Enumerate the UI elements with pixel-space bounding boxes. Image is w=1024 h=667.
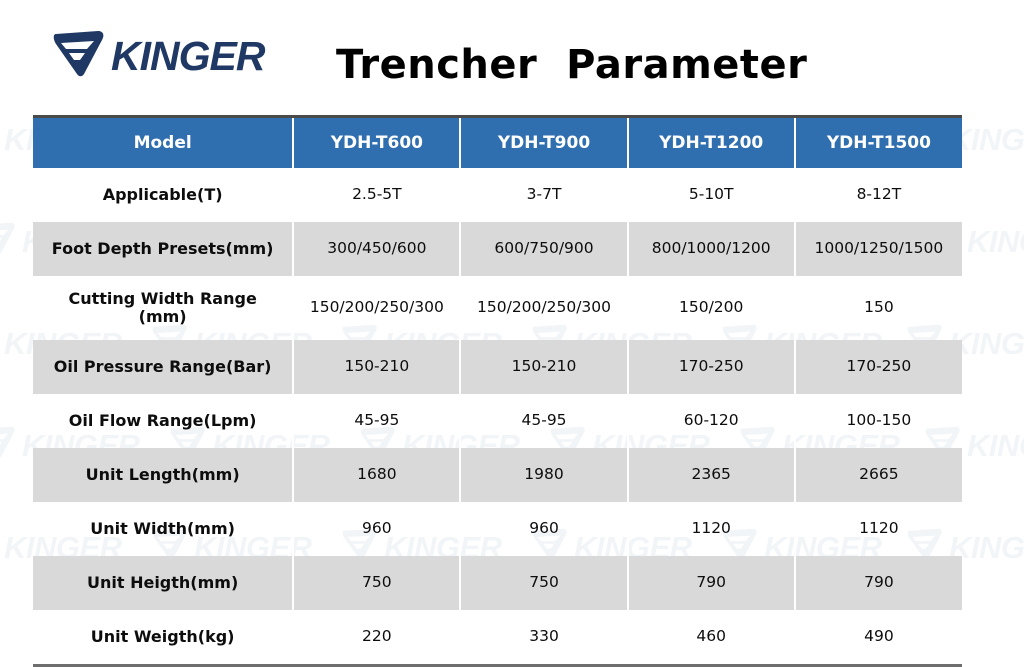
watermark-label: KINGER: [967, 226, 1024, 257]
table-header-row: Model YDH-T600 YDH-T900 YDH-T1200 YDH-T1…: [33, 117, 962, 169]
table-row: Unit Weigth(kg)220330460490: [33, 610, 962, 666]
table-cell: 220: [293, 610, 460, 666]
table-cell: 1120: [628, 502, 795, 556]
table-cell: 5-10T: [628, 168, 795, 222]
row-label: Unit Length(mm): [33, 448, 293, 502]
table-cell: 60-120: [628, 394, 795, 448]
brand-name: KINGER: [111, 36, 264, 77]
kinger-shield-logo-icon: [0, 426, 18, 464]
table-cell: 750: [460, 556, 627, 610]
table-cell: 100-150: [795, 394, 962, 448]
table-header: Model YDH-T600 YDH-T900 YDH-T1200 YDH-T1…: [33, 117, 962, 169]
row-label: Unit Heigth(mm): [33, 556, 293, 610]
table-cell: 8-12T: [795, 168, 962, 222]
table-row: Foot Depth Presets(mm)300/450/600600/750…: [33, 222, 962, 276]
table-cell: 150/200: [628, 276, 795, 340]
table-cell: 330: [460, 610, 627, 666]
row-label: Oil Pressure Range(Bar): [33, 340, 293, 394]
table-cell: 1980: [460, 448, 627, 502]
row-label: Cutting Width Range(mm): [33, 276, 293, 340]
table-cell: 790: [628, 556, 795, 610]
table-cell: 300/450/600: [293, 222, 460, 276]
table-cell: 1000/1250/1500: [795, 222, 962, 276]
page-title: Trencher Parameter: [336, 42, 807, 88]
column-header-t900: YDH-T900: [460, 117, 627, 169]
table-cell: 150/200/250/300: [293, 276, 460, 340]
table-cell: 150: [795, 276, 962, 340]
kinger-shield-logo-icon: [50, 30, 108, 83]
table-row: Oil Pressure Range(Bar)150-210150-210170…: [33, 340, 962, 394]
table-cell: 170-250: [628, 340, 795, 394]
table-cell: 1120: [795, 502, 962, 556]
table-cell: 2665: [795, 448, 962, 502]
column-header-t1200: YDH-T1200: [628, 117, 795, 169]
table-cell: 600/750/900: [460, 222, 627, 276]
table-row: Applicable(T)2.5-5T3-7T5-10T8-12T: [33, 168, 962, 222]
brand-logo: KINGER: [50, 30, 264, 83]
table-cell: 960: [460, 502, 627, 556]
table-cell: 3-7T: [460, 168, 627, 222]
table-cell: 170-250: [795, 340, 962, 394]
row-label: Unit Weigth(kg): [33, 610, 293, 666]
table-cell: 460: [628, 610, 795, 666]
table-cell: 150-210: [293, 340, 460, 394]
column-header-t600: YDH-T600: [293, 117, 460, 169]
kinger-shield-logo-icon: [0, 222, 18, 260]
table-row: Oil Flow Range(Lpm)45-9545-9560-120100-1…: [33, 394, 962, 448]
table-cell: 150/200/250/300: [460, 276, 627, 340]
table-row: Unit Width(mm)96096011201120: [33, 502, 962, 556]
table-cell: 750: [293, 556, 460, 610]
row-label: Applicable(T): [33, 168, 293, 222]
column-header-model: Model: [33, 117, 293, 169]
table-row: Cutting Width Range(mm)150/200/250/30015…: [33, 276, 962, 340]
table-cell: 790: [795, 556, 962, 610]
table-cell: 2.5-5T: [293, 168, 460, 222]
row-label: Unit Width(mm): [33, 502, 293, 556]
table-cell: 2365: [628, 448, 795, 502]
row-label: Foot Depth Presets(mm): [33, 222, 293, 276]
row-label: Oil Flow Range(Lpm): [33, 394, 293, 448]
column-header-t1500: YDH-T1500: [795, 117, 962, 169]
table-cell: 45-95: [460, 394, 627, 448]
parameter-table: Model YDH-T600 YDH-T900 YDH-T1200 YDH-T1…: [33, 115, 962, 667]
page-header: KINGER Trencher Parameter: [0, 0, 1024, 112]
table-cell: 1680: [293, 448, 460, 502]
table-cell: 150-210: [460, 340, 627, 394]
table-body: Applicable(T)2.5-5T3-7T5-10T8-12TFoot De…: [33, 168, 962, 666]
parameter-table-container: Model YDH-T600 YDH-T900 YDH-T1200 YDH-T1…: [33, 115, 962, 667]
table-cell: 960: [293, 502, 460, 556]
table-cell: 45-95: [293, 394, 460, 448]
watermark-label: KINGER: [967, 430, 1024, 461]
table-row: Unit Heigth(mm)750750790790: [33, 556, 962, 610]
table-cell: 490: [795, 610, 962, 666]
table-cell: 800/1000/1200: [628, 222, 795, 276]
table-row: Unit Length(mm)1680198023652665: [33, 448, 962, 502]
